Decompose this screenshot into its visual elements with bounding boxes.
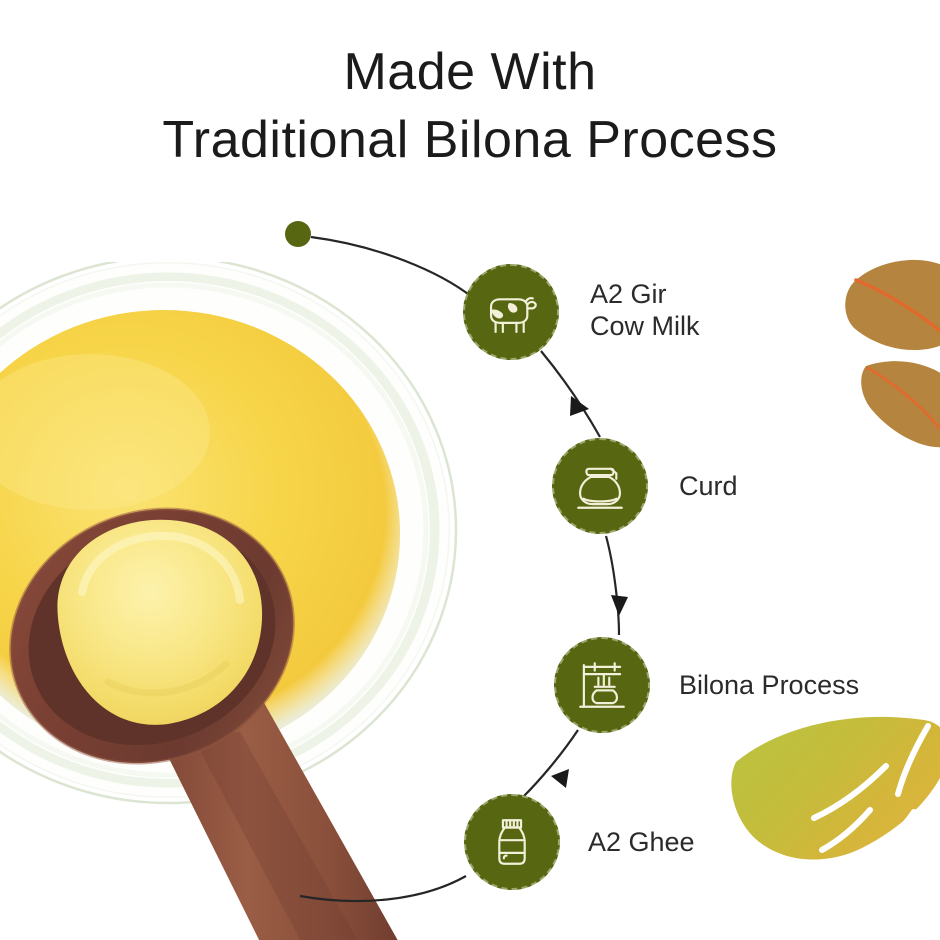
step-label-a2-ghee: A2 Ghee [588,826,695,858]
start-dot [285,221,311,247]
step-node-bilona-process[interactable] [554,637,650,733]
curd-pot-icon [571,457,629,515]
step-node-a2-ghee[interactable] [464,794,560,890]
infographic-canvas: Made With Traditional Bilona Process A2 … [0,0,940,940]
step-node-curd[interactable] [552,438,648,534]
process-flow-connectors [0,0,940,940]
bilona-churner-icon [573,656,631,714]
step-node-cow-milk[interactable] [463,264,559,360]
step-label-cow-milk: A2 Gir Cow Milk [590,278,700,343]
cow-icon [482,283,540,341]
step-label-bilona-process: Bilona Process [679,669,859,701]
step-label-curd: Curd [679,470,738,502]
ghee-jar-icon [483,813,541,871]
